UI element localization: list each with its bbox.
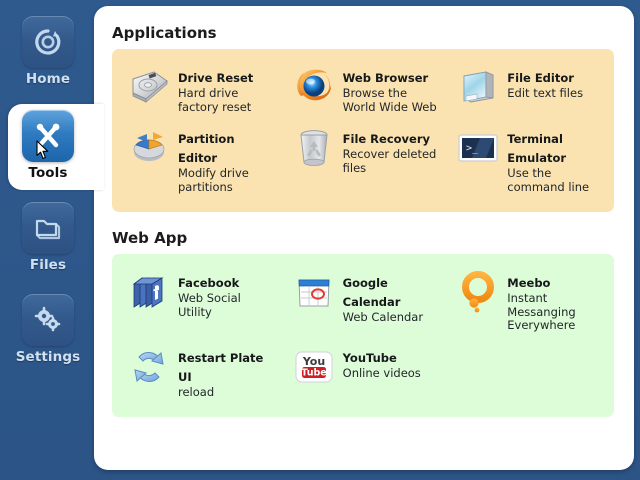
app-name: Web Browser	[343, 71, 429, 85]
app-google-calendar[interactable]: Google Calendar Web Calendar	[281, 264, 446, 339]
app-file-recovery[interactable]: File Recovery Recover deleted files	[281, 120, 446, 200]
sidebar-item-label: Home	[0, 71, 96, 87]
files-tile	[22, 202, 74, 254]
app-name: Drive Reset	[178, 71, 253, 85]
terminal-icon: >_	[455, 126, 501, 170]
youtube-icon: You Tube	[291, 345, 337, 389]
app-desc: Use the command line	[507, 167, 606, 194]
app-partition-editor[interactable]: Partition Editor Modify drive partitions	[116, 120, 281, 200]
app-drive-reset[interactable]: Drive Reset Hard drive factory reset	[116, 59, 281, 120]
power-circle-icon	[33, 27, 63, 57]
app-web-browser[interactable]: Web Browser Browse the World Wide Web	[281, 59, 446, 120]
webapp-grid: Facebook Web Social Utility	[116, 264, 610, 405]
webapp-panel: Facebook Web Social Utility	[112, 254, 614, 417]
applications-panel: Drive Reset Hard drive factory reset	[112, 49, 614, 212]
meebo-icon	[455, 270, 501, 314]
app-name: Restart Plate UI	[178, 351, 263, 384]
sidebar-item-label: Settings	[0, 349, 96, 365]
web-browser-icon	[291, 65, 337, 109]
app-desc: Web Social Utility	[178, 292, 277, 319]
section-title-applications: Applications	[112, 24, 634, 42]
app-meebo[interactable]: Meebo Instant Messanging Everywhere	[445, 264, 610, 339]
app-desc: Modify drive partitions	[178, 167, 277, 194]
app-desc: Recover deleted files	[343, 148, 442, 175]
sidebar-item-home[interactable]: Home	[0, 10, 96, 96]
app-restart-plate-ui[interactable]: Restart Plate UI reload	[116, 339, 281, 406]
app-name: Google Calendar	[343, 276, 401, 309]
app-name: YouTube	[343, 351, 397, 365]
sidebar-item-label: Files	[0, 257, 96, 273]
sidebar-item-settings[interactable]: Settings	[0, 288, 96, 374]
text-editor-icon	[455, 65, 501, 109]
facebook-icon	[126, 270, 172, 314]
svg-text:Tube: Tube	[301, 367, 326, 378]
sidebar-item-files[interactable]: Files	[0, 196, 96, 282]
home-tile	[22, 16, 74, 68]
pie-chart-icon	[126, 126, 172, 170]
content-card: Applications	[94, 6, 634, 470]
section-title-webapp: Web App	[112, 229, 634, 247]
applications-grid: Drive Reset Hard drive factory reset	[116, 59, 610, 200]
sidebar-item-tools[interactable]: Tools	[0, 104, 96, 190]
desktop-root: Home Tools	[0, 0, 640, 480]
app-terminal-emulator[interactable]: >_ Terminal Emulator Use the command lin…	[445, 120, 610, 200]
app-name: Meebo	[507, 276, 550, 290]
hard-drive-icon	[126, 65, 172, 109]
sidebar: Home Tools	[0, 0, 96, 480]
svg-text:You: You	[301, 355, 324, 368]
app-youtube[interactable]: You Tube YouTube Online videos	[281, 339, 446, 406]
tools-tile	[22, 110, 74, 162]
app-desc: Hard drive factory reset	[178, 87, 277, 114]
app-desc: reload	[178, 386, 277, 400]
refresh-arrows-icon	[126, 345, 172, 389]
app-desc: Instant Messanging Everywhere	[507, 292, 606, 333]
trash-recycle-icon	[291, 126, 337, 170]
app-file-editor[interactable]: File Editor Edit text files	[445, 59, 610, 120]
folder-icon	[33, 214, 63, 242]
app-name: File Editor	[507, 71, 574, 85]
app-name: File Recovery	[343, 132, 430, 146]
wrench-screwdriver-icon	[32, 120, 64, 152]
app-desc: Browse the World Wide Web	[343, 87, 442, 114]
app-desc: Edit text files	[507, 87, 583, 101]
app-facebook[interactable]: Facebook Web Social Utility	[116, 264, 281, 339]
gears-icon	[32, 305, 64, 335]
svg-text:>_: >_	[466, 143, 479, 154]
app-name: Facebook	[178, 276, 239, 290]
app-desc: Online videos	[343, 367, 421, 381]
sidebar-item-label: Tools	[0, 165, 96, 181]
app-name: Terminal Emulator	[507, 132, 566, 165]
settings-tile	[22, 294, 74, 346]
app-name: Partition Editor	[178, 132, 235, 165]
app-desc: Web Calendar	[343, 311, 442, 325]
calendar-icon	[291, 270, 337, 314]
